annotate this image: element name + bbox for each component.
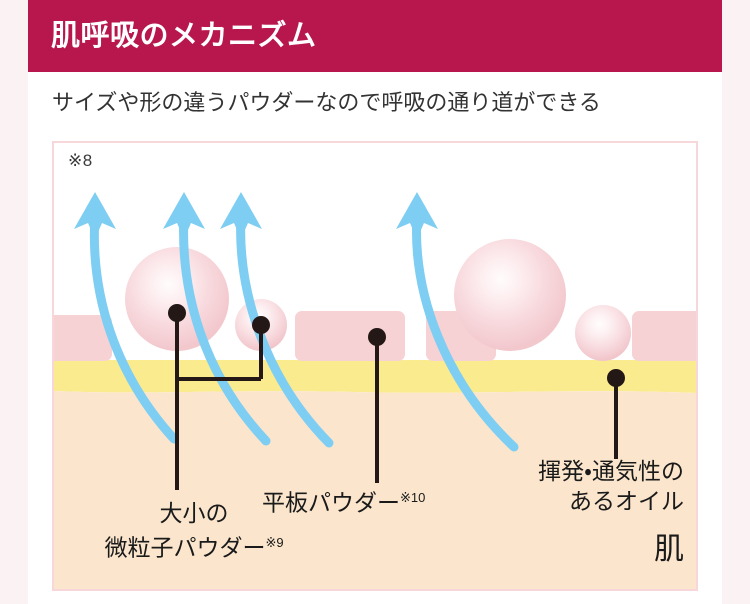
leader-dot — [252, 316, 270, 334]
label-oil-line2: あるオイル — [414, 486, 684, 516]
label-flat-powder: 平板パウダー※10 — [262, 483, 425, 518]
label-flat-powder-text: 平板パウダー — [262, 490, 400, 516]
platy-powder-particle — [295, 311, 405, 361]
diagram-frame: ※8 大小の 微粒子パウダー※9 平板パウダー※10 揮発・通気性の あるオイル… — [52, 141, 698, 591]
fine-powder-sphere-small — [575, 305, 631, 361]
label-fine-powder-note: ※9 — [265, 535, 283, 550]
label-fine-powder-line2-wrap: 微粒子パウダー※9 — [64, 528, 324, 563]
fine-powder-sphere-large — [454, 239, 566, 351]
header-band: 肌呼吸のメカニズム — [28, 0, 722, 72]
leader-dot — [168, 304, 186, 322]
leader-dot — [607, 369, 625, 387]
platy-powder-particle — [632, 311, 696, 361]
label-oil-line1: 揮発・通気性の — [414, 456, 684, 486]
label-oil: 揮発・通気性の あるオイル — [414, 456, 684, 516]
note-marker-8: ※8 — [68, 151, 93, 171]
page-title: 肌呼吸のメカニズム — [51, 22, 317, 51]
subtitle-text: サイズや形の違うパウダーなので呼吸の通り道ができる — [52, 88, 702, 118]
leader-dot — [368, 328, 386, 346]
label-fine-powder-line2: 微粒子パウダー — [104, 535, 265, 561]
label-skin: 肌 — [434, 535, 684, 565]
